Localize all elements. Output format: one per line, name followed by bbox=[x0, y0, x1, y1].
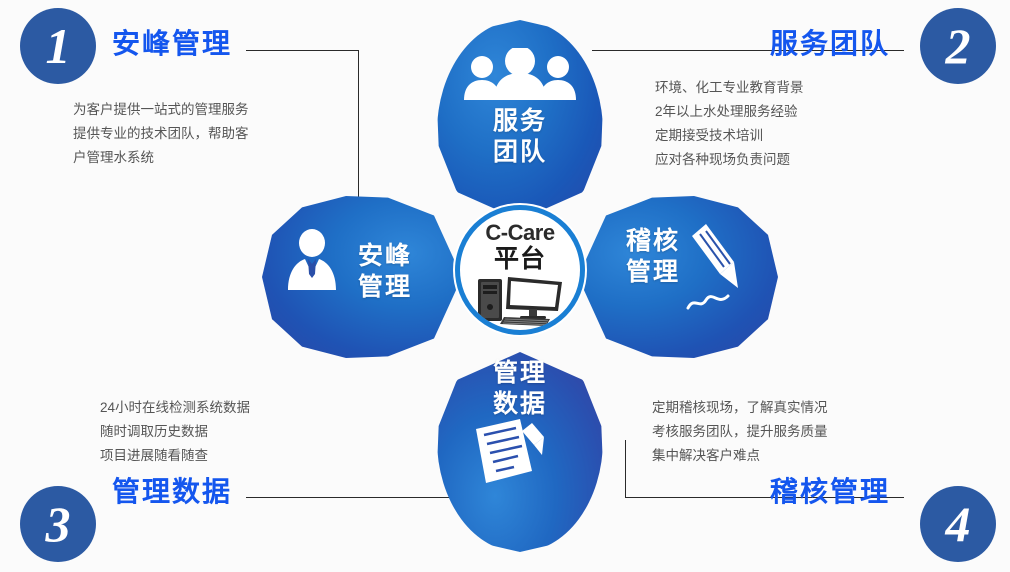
section-title-1: 安峰管理 bbox=[112, 22, 232, 62]
connector-line-1-horizontal bbox=[246, 50, 359, 51]
hub-chinese-title: 平台 bbox=[494, 246, 546, 272]
body-line: 应对各种现场负责问题 bbox=[655, 148, 804, 172]
body-line: 提供专业的技术团队，帮助客 bbox=[73, 122, 249, 146]
body-line: 户管理水系统 bbox=[73, 146, 249, 170]
businessman-icon bbox=[286, 228, 338, 295]
body-line: 考核服务团队，提升服务质量 bbox=[652, 420, 828, 444]
desktop-computer-icon bbox=[474, 273, 566, 332]
body-line: 定期接受技术培训 bbox=[655, 124, 804, 148]
people-group-icon bbox=[462, 48, 578, 105]
section-body-4: 定期稽核现场，了解真实情况考核服务团队，提升服务质量集中解决客户难点 bbox=[652, 396, 828, 468]
number-badge-4: 4 bbox=[920, 486, 996, 562]
body-line: 环境、化工专业教育背景 bbox=[655, 76, 804, 100]
petal-label-anfeng-management: 安峰 管理 bbox=[340, 241, 430, 303]
petal-label-management-data: 管理 数据 bbox=[437, 358, 603, 420]
body-line: 随时调取历史数据 bbox=[100, 420, 250, 444]
connector-line-4-vertical bbox=[625, 440, 626, 498]
number-badge-3: 3 bbox=[20, 486, 96, 562]
body-line: 24小时在线检测系统数据 bbox=[100, 396, 250, 420]
infographic-canvas: 服务 团队 安峰 管理 稽核 管理 管理 数据 C-Care 平台 bbox=[0, 0, 1010, 572]
center-hub[interactable]: C-Care 平台 bbox=[455, 205, 585, 335]
number-badge-1: 1 bbox=[20, 8, 96, 84]
section-title-4: 稽核管理 bbox=[770, 470, 890, 510]
body-line: 为客户提供一站式的管理服务 bbox=[73, 98, 249, 122]
clipboard-pencil-icon bbox=[470, 415, 546, 492]
section-body-2: 环境、化工专业教育背景2年以上水处理服务经验定期接受技术培训应对各种现场负责问题 bbox=[655, 76, 804, 172]
section-title-2: 服务团队 bbox=[770, 22, 890, 62]
number-badge-2: 2 bbox=[920, 8, 996, 84]
connector-line-1-vertical bbox=[358, 50, 359, 202]
body-line: 定期稽核现场，了解真实情况 bbox=[652, 396, 828, 420]
section-body-3: 24小时在线检测系统数据随时调取历史数据项目进展随看随查 bbox=[100, 396, 250, 468]
section-body-1: 为客户提供一站式的管理服务提供专业的技术团队，帮助客户管理水系统 bbox=[73, 98, 249, 170]
section-title-3: 管理数据 bbox=[112, 470, 232, 510]
petal-label-audit-management: 稽核 管理 bbox=[608, 226, 698, 288]
body-line: 集中解决客户难点 bbox=[652, 444, 828, 468]
petal-label-service-team: 服务 团队 bbox=[437, 106, 603, 168]
body-line: 项目进展随看随查 bbox=[100, 444, 250, 468]
body-line: 2年以上水处理服务经验 bbox=[655, 100, 804, 124]
hub-english-title: C-Care bbox=[485, 222, 554, 244]
connector-line-3-horizontal bbox=[246, 497, 452, 498]
